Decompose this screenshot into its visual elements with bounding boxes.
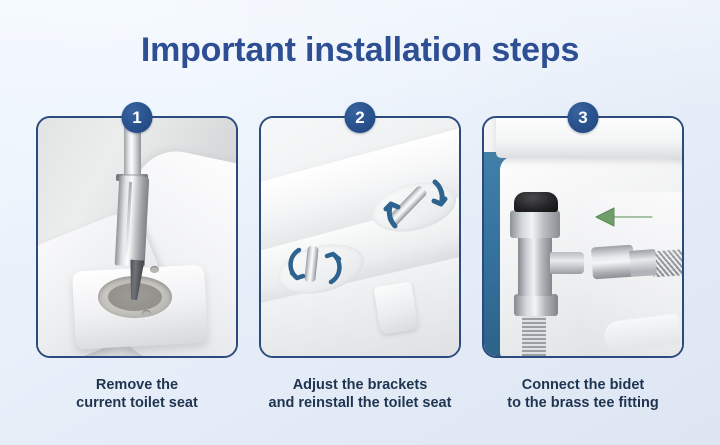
installation-steps-poster: Important installation steps 1 bbox=[0, 0, 720, 445]
step-badge-1: 1 bbox=[122, 102, 153, 133]
shutoff-valve-body bbox=[518, 236, 552, 296]
valve-upper-nut bbox=[510, 210, 560, 238]
step-card-1[interactable]: 1 bbox=[36, 116, 238, 358]
step-3-photo bbox=[484, 118, 682, 356]
step-1-photo bbox=[38, 118, 236, 356]
step-card-3[interactable]: 3 bbox=[482, 116, 684, 358]
brass-tee-outlet bbox=[550, 252, 584, 274]
screwdriver-grip bbox=[115, 175, 150, 266]
bolt-hole-dot bbox=[150, 266, 159, 273]
step-badge-3: 3 bbox=[568, 102, 599, 133]
caption-line: Connect the bidet bbox=[476, 376, 690, 394]
supply-hose-lower bbox=[522, 314, 546, 356]
valve-cap bbox=[514, 192, 558, 212]
step-caption-3: Connect the bidet to the brass tee fitti… bbox=[476, 376, 690, 412]
rotation-arrow-icon bbox=[283, 238, 349, 296]
rotation-arrow-icon bbox=[377, 174, 451, 240]
caption-line: Adjust the brackets bbox=[253, 376, 467, 394]
step-caption-2: Adjust the brackets and reinstall the to… bbox=[253, 376, 467, 412]
caption-line: current toilet seat bbox=[30, 394, 244, 412]
steps-card-row: 1 bbox=[36, 116, 684, 358]
step-card-2[interactable]: 2 bbox=[259, 116, 461, 358]
caption-line: Remove the bbox=[30, 376, 244, 394]
caption-line: and reinstall the toilet seat bbox=[253, 394, 467, 412]
page-title: Important installation steps bbox=[0, 30, 720, 70]
step-caption-1: Remove the current toilet seat bbox=[30, 376, 244, 412]
caption-line: to the brass tee fitting bbox=[476, 394, 690, 412]
step-2-photo bbox=[261, 118, 459, 356]
bolt-hole-dot bbox=[142, 310, 151, 317]
bracket-tab bbox=[373, 281, 418, 334]
caption-row: Remove the current toilet seat Adjust th… bbox=[36, 376, 684, 412]
step-badge-2: 2 bbox=[345, 102, 376, 133]
hose-connector-nut bbox=[591, 245, 635, 280]
valve-lower-nut bbox=[514, 294, 558, 316]
hose-connector-body bbox=[629, 249, 657, 277]
direction-arrow-icon bbox=[594, 204, 654, 230]
